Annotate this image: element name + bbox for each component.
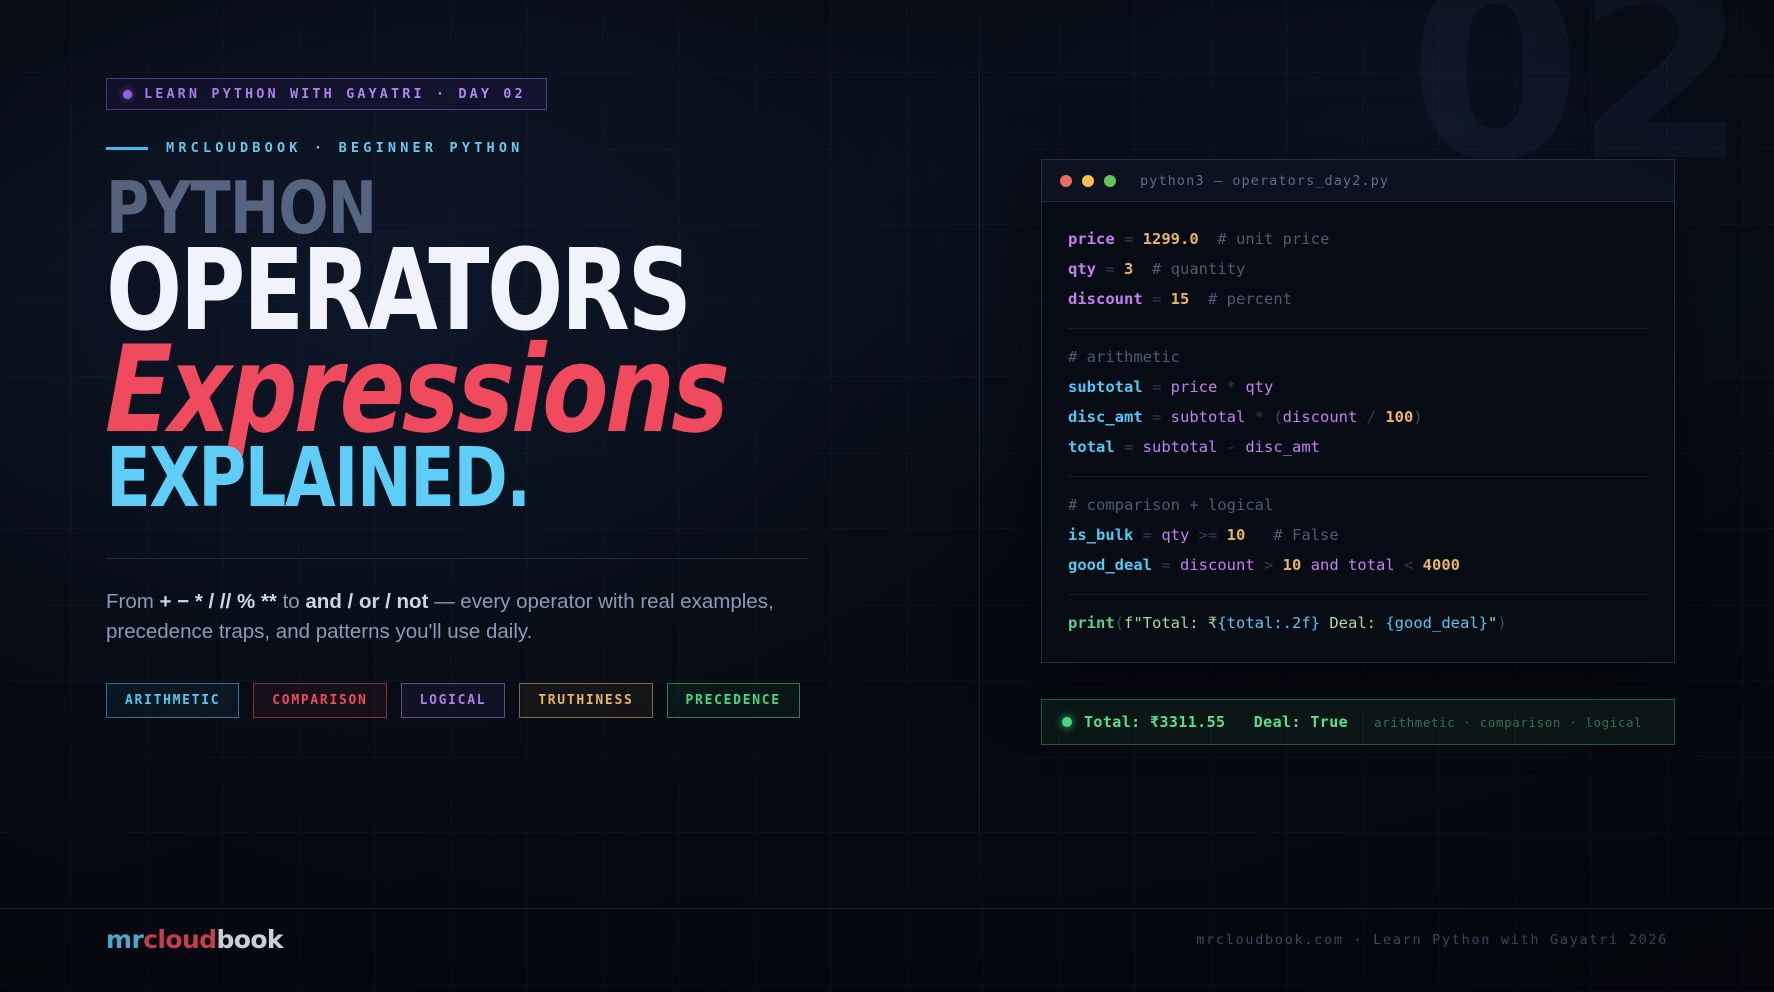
code-content[interactable]: price = 1299.0 # unit priceqty = 3 # qua… — [1042, 202, 1674, 662]
brand-label: MRCLOUDBOOK · BEGINNER PYTHON — [166, 140, 524, 156]
poster-canvas: 02 LEARN PYTHON WITH GAYATRI · DAY 02 MR… — [0, 0, 1774, 992]
headline-divider — [106, 558, 808, 559]
lede-paragraph: From + − * / // % ** to and / or / not —… — [106, 587, 806, 646]
code-window-title: python3 — operators_day2.py — [1140, 173, 1389, 189]
code-token-assign: total — [1068, 438, 1115, 456]
code-token-assign: disc_amt — [1068, 408, 1143, 426]
code-token-plain: discount — [1283, 408, 1358, 426]
code-token-num: 100 — [1385, 408, 1413, 426]
code-token-plain: total — [1348, 556, 1395, 574]
output-topic-tags: arithmetic · comparison · logical — [1374, 715, 1642, 730]
lede-part-1: From — [106, 590, 160, 613]
code-section-separator — [1068, 476, 1648, 477]
code-token-op: > — [1255, 556, 1283, 574]
code-token-assign: subtotal — [1068, 378, 1143, 396]
minimize-dot-icon[interactable] — [1082, 175, 1094, 187]
code-token-comment: # percent — [1208, 290, 1292, 308]
topic-chip-truthiness[interactable]: TRUTHINESS — [519, 683, 652, 718]
series-badge-label: LEARN PYTHON WITH GAYATRI · DAY 02 — [144, 86, 526, 102]
code-token-comment: # quantity — [1152, 260, 1245, 278]
code-token-op: = — [1143, 290, 1171, 308]
lede-part-2: to — [277, 590, 306, 613]
code-line: # arithmetic — [1068, 342, 1648, 372]
topic-chip-list: ARITHMETICCOMPARISONLOGICALTRUTHINESSPRE… — [106, 683, 896, 718]
code-token-op: * — [1245, 408, 1273, 426]
code-token-num: 10 — [1283, 556, 1302, 574]
code-window-titlebar[interactable]: python3 — operators_day2.py — [1042, 160, 1674, 202]
code-token-op: * — [1217, 378, 1245, 396]
output-text: Total: ₹3311.55 Deal: True — [1084, 713, 1348, 731]
topic-chip-comparison[interactable]: COMPARISON — [253, 683, 386, 718]
code-token-op: = — [1115, 230, 1143, 248]
code-line: print(f"Total: ₹{total:.2f} Deal: {good_… — [1068, 608, 1648, 638]
code-line: price = 1299.0 # unit price — [1068, 224, 1648, 254]
code-token-plain: subtotal — [1143, 438, 1218, 456]
title-line-explained: EXPLAINED. — [106, 445, 738, 514]
code-token-kw: print — [1068, 614, 1115, 632]
code-token-op: = — [1143, 408, 1171, 426]
code-token-plain: qty — [1245, 378, 1273, 396]
code-token-var: price — [1068, 230, 1115, 248]
code-token-paren: ( — [1115, 614, 1124, 632]
topic-chip-arithmetic[interactable]: ARITHMETIC — [106, 683, 239, 718]
code-token-interp: {good_deal} — [1385, 614, 1488, 632]
code-token-paren: ) — [1497, 614, 1506, 632]
code-token-op: >= — [1189, 526, 1226, 544]
code-token-comment: # False — [1273, 526, 1338, 544]
maximize-dot-icon[interactable] — [1104, 175, 1116, 187]
series-badge: LEARN PYTHON WITH GAYATRI · DAY 02 — [106, 78, 547, 110]
code-token-plain: disc_amt — [1245, 438, 1320, 456]
logo-part-book: book — [216, 925, 282, 954]
code-token-num: 3 — [1124, 260, 1133, 278]
code-token-num: 15 — [1171, 290, 1190, 308]
program-output-bar: Total: ₹3311.55 Deal: True arithmetic · … — [1041, 699, 1675, 745]
code-section-separator — [1068, 594, 1648, 595]
code-line: is_bulk = qty >= 10 # False — [1068, 520, 1648, 550]
code-line: good_deal = discount > 10 and total < 40… — [1068, 550, 1648, 580]
success-dot-icon — [1062, 717, 1072, 727]
title-line-expressions: Expressions — [105, 341, 740, 442]
code-token-interp: {total:.2f} — [1217, 614, 1320, 632]
code-token-str: " — [1488, 614, 1497, 632]
code-token-op: = — [1143, 378, 1171, 396]
footer-meta-text: mrcloudbook.com · Learn Python with Gaya… — [1196, 932, 1668, 948]
code-token-plain: discount — [1180, 556, 1255, 574]
code-token-op: - — [1217, 438, 1245, 456]
code-token-assign: is_bulk — [1068, 526, 1133, 544]
code-token-plain: subtotal — [1171, 408, 1246, 426]
code-line: disc_amt = subtotal * (discount / 100) — [1068, 402, 1648, 432]
footer-logo[interactable]: mrcloudbook — [106, 925, 283, 954]
code-line: discount = 15 # percent — [1068, 284, 1648, 314]
code-token-op: / — [1357, 408, 1385, 426]
code-token-var: qty — [1068, 260, 1096, 278]
code-token-op: = — [1096, 260, 1124, 278]
close-dot-icon[interactable] — [1060, 175, 1072, 187]
code-line: # comparison + logical — [1068, 490, 1648, 520]
topic-chip-precedence[interactable]: PRECEDENCE — [667, 683, 800, 718]
code-token-str: Deal: — [1320, 614, 1385, 632]
column-divider — [979, 0, 980, 908]
code-token-comment: # arithmetic — [1068, 348, 1180, 366]
footer-divider — [0, 908, 1774, 909]
code-token-paren: ) — [1413, 408, 1422, 426]
status-dot-icon — [123, 90, 132, 99]
code-token-op: < — [1395, 556, 1423, 574]
code-section-separator — [1068, 328, 1648, 329]
topic-chip-logical[interactable]: LOGICAL — [401, 683, 506, 718]
code-line: qty = 3 # quantity — [1068, 254, 1648, 284]
lede-operators-logical: and / or / not — [305, 590, 428, 613]
code-line: total = subtotal - disc_amt — [1068, 432, 1648, 462]
lede-operators-arith: + − * / // % ** — [160, 590, 277, 613]
code-token-and: and — [1301, 556, 1348, 574]
code-token-var: discount — [1068, 290, 1143, 308]
code-token-paren: ( — [1273, 408, 1282, 426]
code-token-op: = — [1133, 526, 1161, 544]
accent-rule — [106, 147, 148, 150]
code-editor-window[interactable]: python3 — operators_day2.py price = 1299… — [1041, 159, 1675, 663]
code-token-num: 10 — [1227, 526, 1246, 544]
code-token-sp — [1189, 290, 1208, 308]
code-token-op: = — [1152, 556, 1180, 574]
code-token-sp — [1133, 260, 1152, 278]
left-content-column: LEARN PYTHON WITH GAYATRI · DAY 02 MRCLO… — [106, 78, 896, 718]
code-token-plain: price — [1171, 378, 1218, 396]
code-token-sp — [1199, 230, 1218, 248]
code-line: subtotal = price * qty — [1068, 372, 1648, 402]
brand-line: MRCLOUDBOOK · BEGINNER PYTHON — [106, 140, 896, 156]
code-token-num: 4000 — [1423, 556, 1460, 574]
code-token-plain: qty — [1161, 526, 1189, 544]
code-token-num: 1299.0 — [1143, 230, 1199, 248]
logo-part-cloud: cloud — [143, 925, 216, 954]
page-title: PYTHON OPERATORS Expressions EXPLAINED. — [106, 178, 896, 514]
code-token-comment: # comparison + logical — [1068, 496, 1273, 514]
code-token-op: = — [1115, 438, 1143, 456]
code-token-str: f"Total: ₹ — [1124, 614, 1217, 632]
code-token-sp — [1245, 526, 1273, 544]
logo-part-mr: mr — [106, 925, 143, 954]
code-token-comment: # unit price — [1217, 230, 1329, 248]
code-token-assign: good_deal — [1068, 556, 1152, 574]
